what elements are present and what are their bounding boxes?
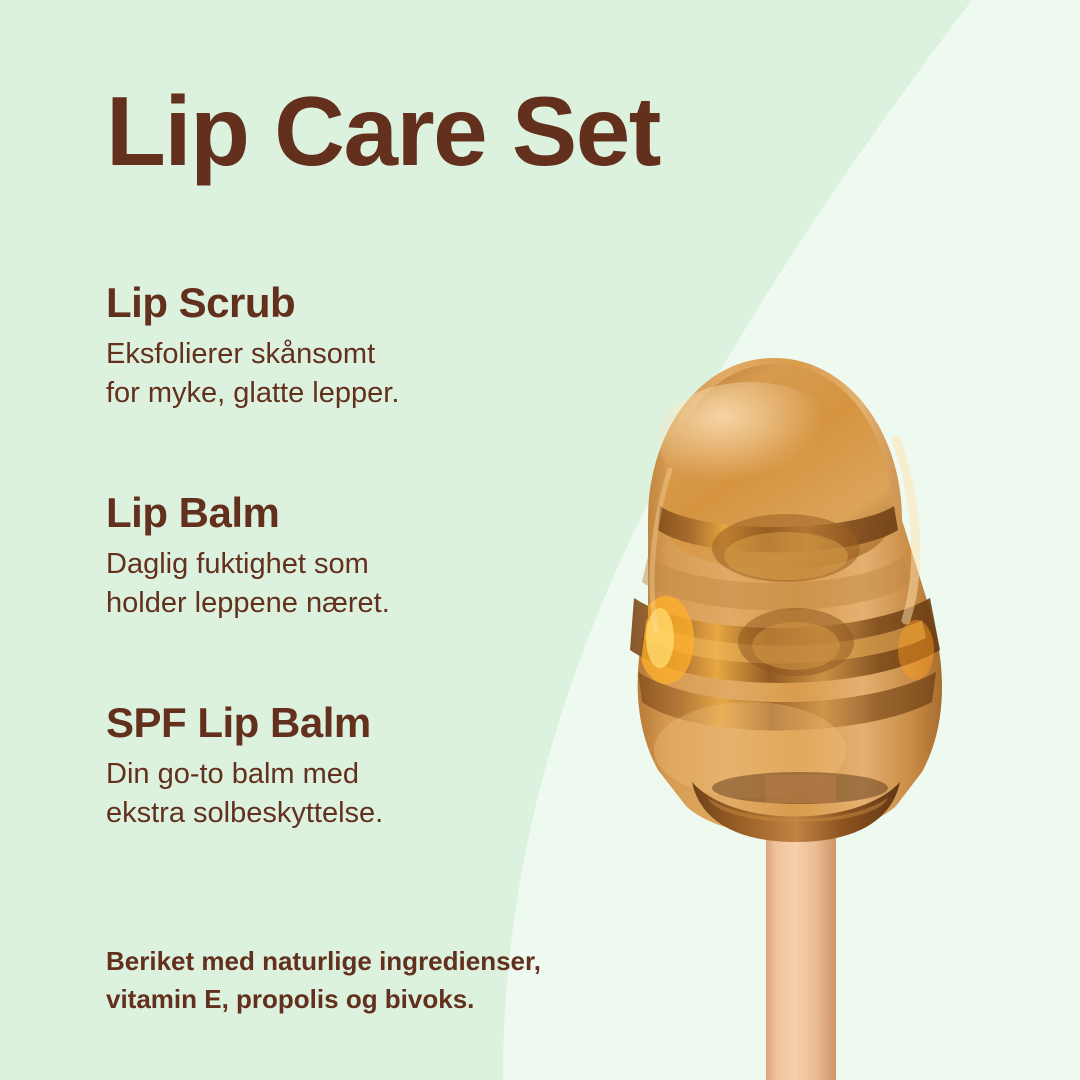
product-item: Lip Balm Daglig fuktighet som holder lep… bbox=[106, 491, 626, 622]
page-title: Lip Care Set bbox=[106, 82, 660, 180]
product-description: Eksfolierer skånsomt for myke, glatte le… bbox=[106, 335, 626, 412]
lip-care-set-poster: Lip Care Set Lip Scrub Eksfolierer skåns… bbox=[0, 0, 1080, 1080]
product-description: Daglig fuktighet som holder leppene nære… bbox=[106, 545, 626, 622]
product-name: Lip Scrub bbox=[106, 281, 626, 325]
product-item: Lip Scrub Eksfolierer skånsomt for myke,… bbox=[106, 281, 626, 412]
product-item: SPF Lip Balm Din go-to balm med ekstra s… bbox=[106, 701, 626, 832]
product-name: Lip Balm bbox=[106, 491, 626, 535]
product-description: Din go-to balm med ekstra solbeskyttelse… bbox=[106, 755, 626, 832]
footer-note: Beriket med naturlige ingredienser, vita… bbox=[106, 942, 666, 1019]
dipper-glass-body bbox=[630, 358, 942, 836]
honey-dipper-illustration bbox=[600, 320, 1080, 1080]
product-name: SPF Lip Balm bbox=[106, 701, 626, 745]
text-column: Lip Care Set Lip Scrub Eksfolierer skåns… bbox=[0, 0, 640, 1080]
